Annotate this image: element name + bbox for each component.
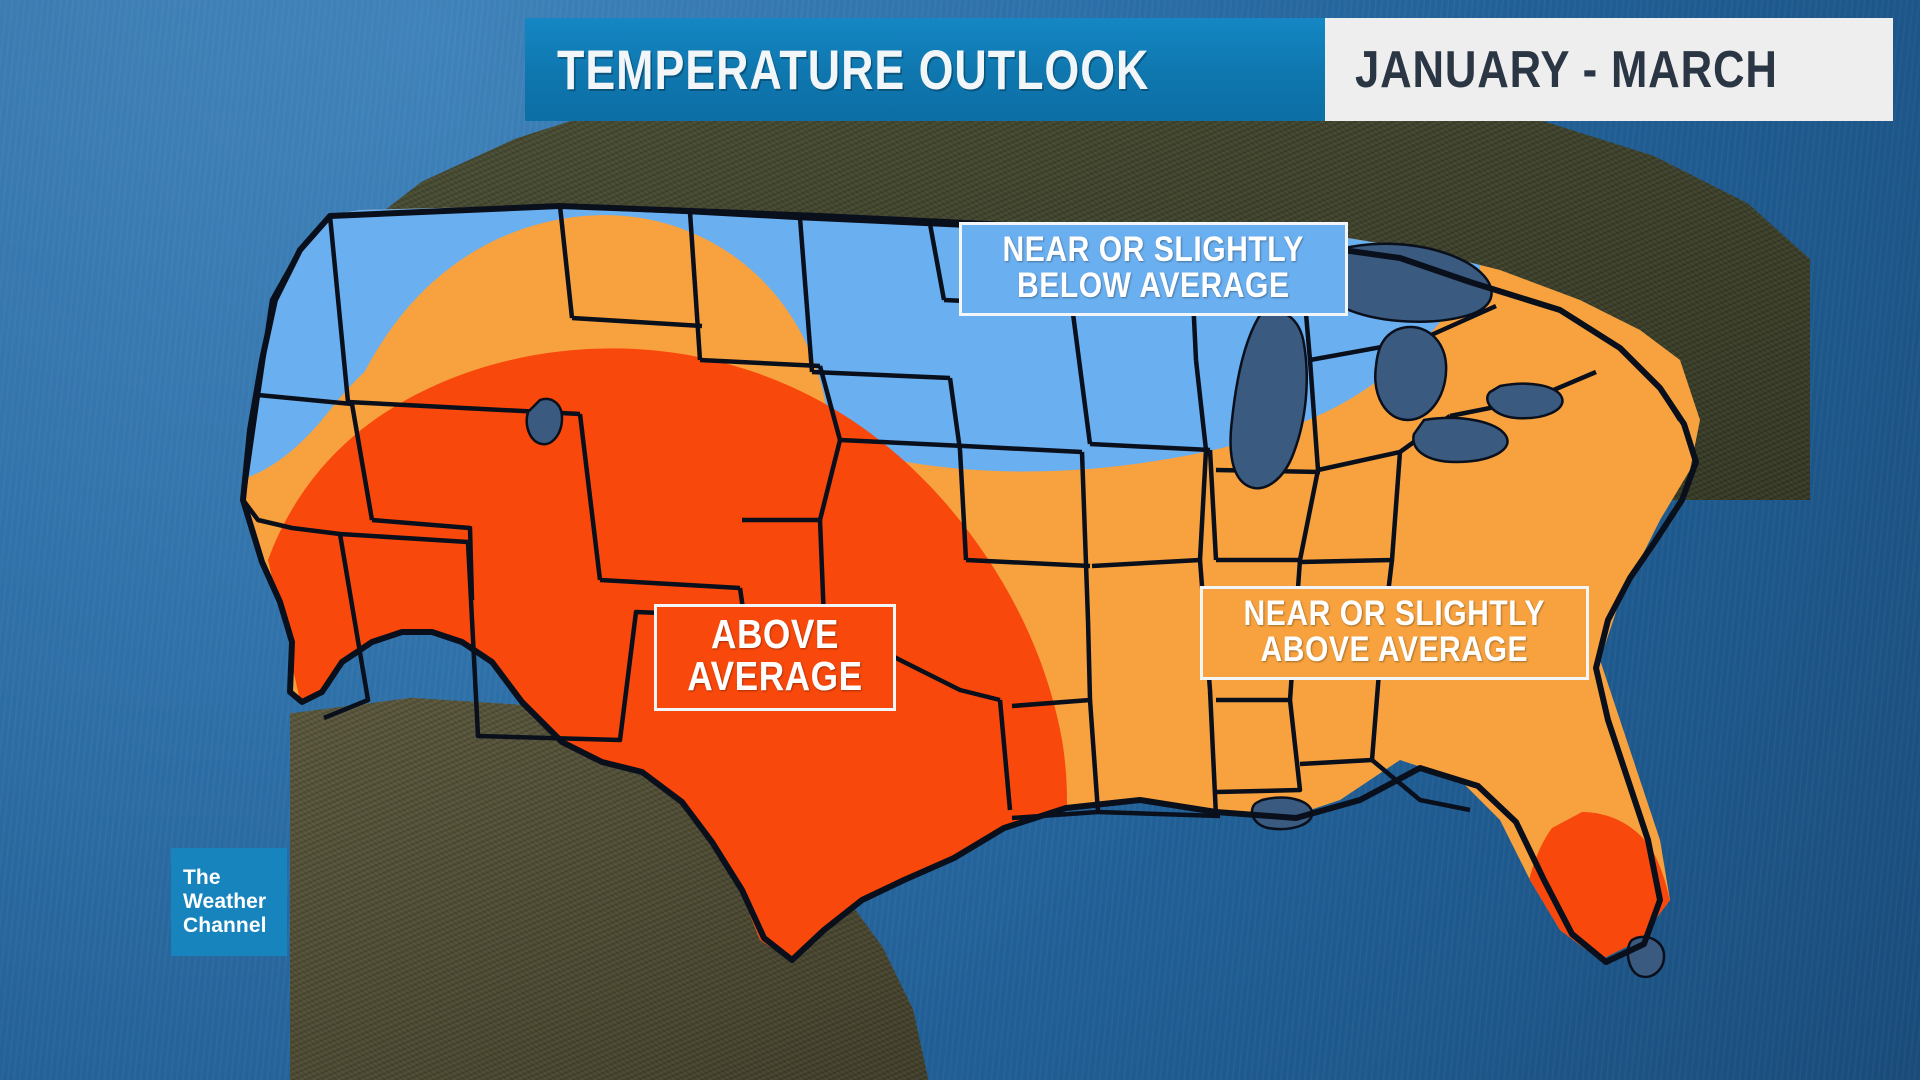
lake-erie [1413, 418, 1507, 462]
callout-line-2: AVERAGE [687, 656, 862, 698]
page-title: TEMPERATURE OUTLOOK [557, 37, 1149, 102]
temperature-outlook-map [0, 0, 1920, 1080]
lake-huron [1375, 327, 1446, 420]
the-weather-channel-logo: The Weather Channel [171, 848, 287, 956]
period-banner: JANUARY - MARCH [1325, 18, 1892, 121]
callout-above-average: ABOVE AVERAGE [654, 604, 896, 711]
weather-graphic: TEMPERATURE OUTLOOK JANUARY - MARCH NEAR… [0, 0, 1920, 1080]
logo-line-2: Weather [183, 890, 287, 914]
logo-line-3: Channel [183, 914, 287, 938]
callout-line-1: NEAR OR SLIGHTLY [1244, 596, 1545, 632]
callout-line-1: ABOVE [687, 614, 862, 656]
callout-near-or-slightly-below-average: NEAR OR SLIGHTLY BELOW AVERAGE [959, 222, 1348, 316]
lake-ontario [1487, 384, 1562, 419]
logo-line-1: The [183, 866, 287, 890]
callout-near-or-slightly-above-average: NEAR OR SLIGHTLY ABOVE AVERAGE [1200, 586, 1589, 680]
period-label: JANUARY - MARCH [1355, 40, 1778, 100]
title-banner: TEMPERATURE OUTLOOK [525, 18, 1325, 121]
callout-line-1: NEAR OR SLIGHTLY [1003, 232, 1304, 268]
callout-line-2: ABOVE AVERAGE [1244, 632, 1545, 668]
callout-line-2: BELOW AVERAGE [1003, 268, 1304, 304]
header-banner: TEMPERATURE OUTLOOK JANUARY - MARCH [525, 18, 1893, 121]
